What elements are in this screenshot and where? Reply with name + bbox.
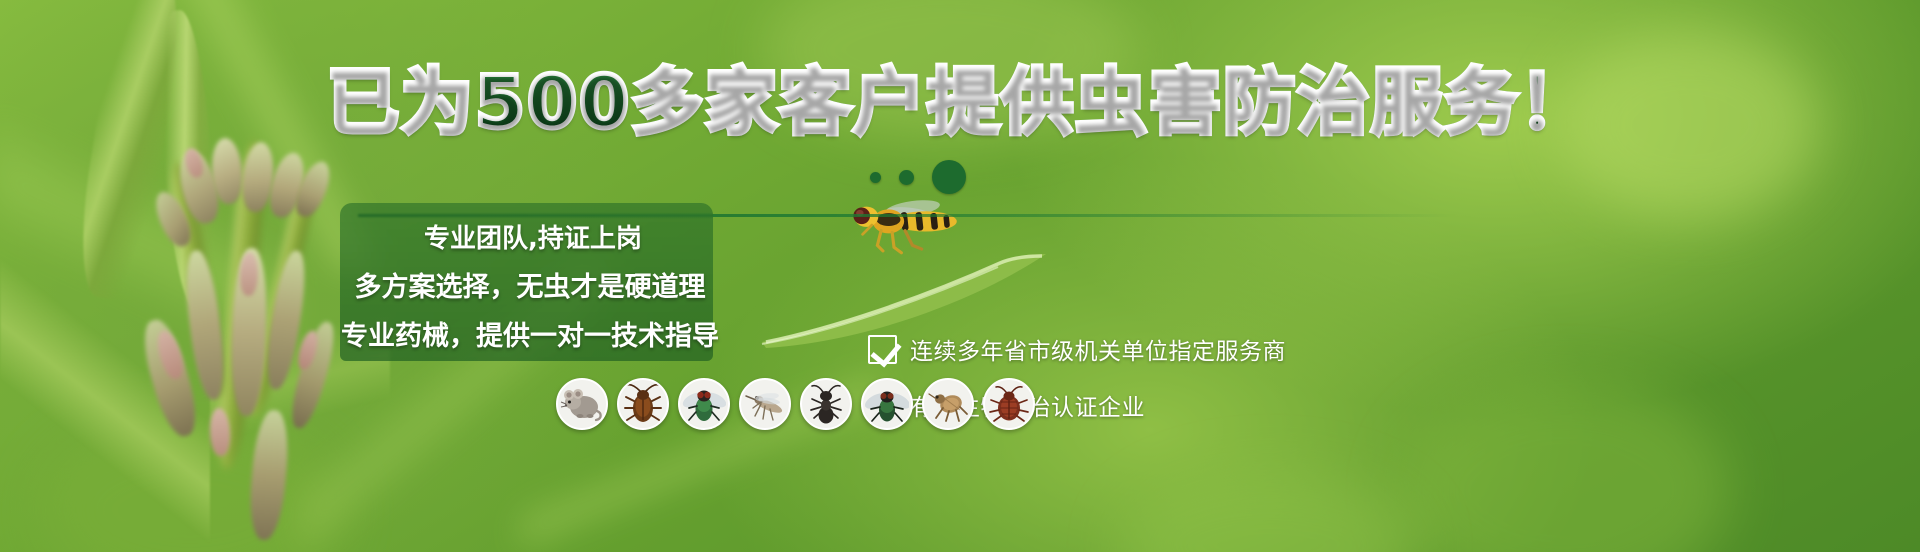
ant-icon	[804, 382, 848, 426]
credential-label: 连续多年省市级机关单位指定服务商	[910, 332, 1286, 366]
bedbug-icon	[987, 382, 1031, 426]
feature-line-2: 多方案选择，无虫才是硬道理	[340, 252, 720, 301]
housefly-icon	[865, 382, 909, 426]
list-item: 连续多年省市级机关单位指定服务商	[868, 332, 1286, 366]
feature-panel-text: 专业团队,持证上岗 多方案选择，无虫才是硬道理 专业药械，提供一对一技术指导	[340, 216, 720, 350]
pest-icon-cockroach[interactable]	[617, 378, 669, 430]
pest-icon-mosquito[interactable]	[739, 378, 791, 430]
mosquito-icon	[743, 382, 787, 426]
hoverfly-icon	[846, 196, 966, 256]
pest-icon-ant[interactable]	[800, 378, 852, 430]
flea-icon	[926, 382, 970, 426]
pest-icon-bedbug[interactable]	[983, 378, 1035, 430]
pest-icon-flea[interactable]	[922, 378, 974, 430]
checkbox-checked-icon	[868, 335, 897, 364]
fly-icon	[682, 382, 726, 426]
mouse-icon	[560, 382, 604, 426]
feature-line-3: 专业药械，提供一对一技术指导	[340, 301, 720, 350]
page-title: 已为500多家客户提供虫害防治服务！	[0, 66, 1920, 138]
small-dot	[870, 172, 881, 183]
feature-line-1: 专业团队,持证上岗	[346, 216, 720, 252]
large-dot	[932, 160, 966, 194]
medium-dot	[899, 170, 914, 185]
cockroach-icon	[621, 382, 665, 426]
pest-icon-fly[interactable]	[678, 378, 730, 430]
page-title-text: 已为500多家客户提供虫害防治服务！	[327, 66, 1593, 138]
pest-icon-housefly[interactable]	[861, 378, 913, 430]
pest-icon-row	[556, 378, 1035, 430]
decor-dots	[870, 160, 966, 194]
pest-icon-mouse[interactable]	[556, 378, 608, 430]
background-leaf	[520, 330, 880, 552]
promo-banner: 已为500多家客户提供虫害防治服务！ 已为500多家客户提供虫害防治服务！ 专业…	[0, 0, 1920, 552]
